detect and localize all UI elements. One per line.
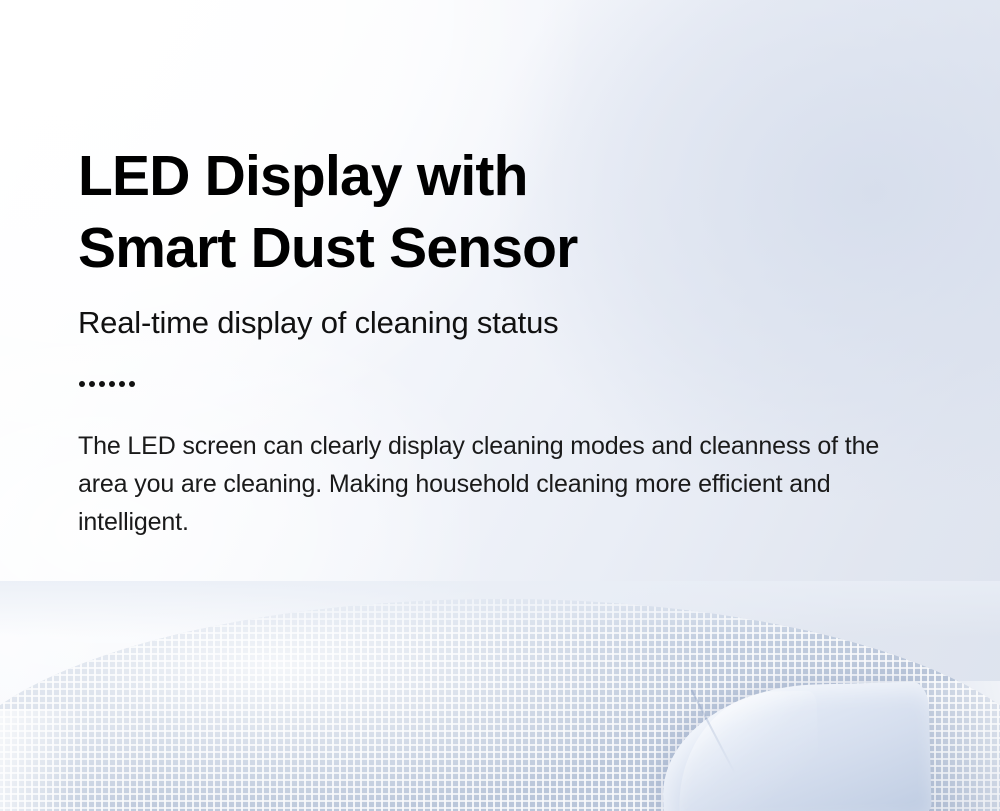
separator-dot: [129, 381, 135, 387]
separator-dot: [99, 381, 105, 387]
body-paragraph: The LED screen can clearly display clean…: [78, 387, 908, 541]
product-feature-banner: LED Display with Smart Dust Sensor Real-…: [0, 0, 1000, 811]
separator-dot: [79, 381, 85, 387]
separator-dot: [119, 381, 125, 387]
copy-block: LED Display with Smart Dust Sensor Real-…: [78, 140, 928, 541]
headline-line-2: Smart Dust Sensor: [78, 212, 928, 284]
product-scene-image: [0, 581, 1000, 811]
separator-dot: [109, 381, 115, 387]
headline-line-1: LED Display with: [78, 140, 928, 212]
subtitle: Real-time display of cleaning status: [78, 284, 928, 343]
separator-dot: [89, 381, 95, 387]
dot-separator: [78, 343, 928, 387]
